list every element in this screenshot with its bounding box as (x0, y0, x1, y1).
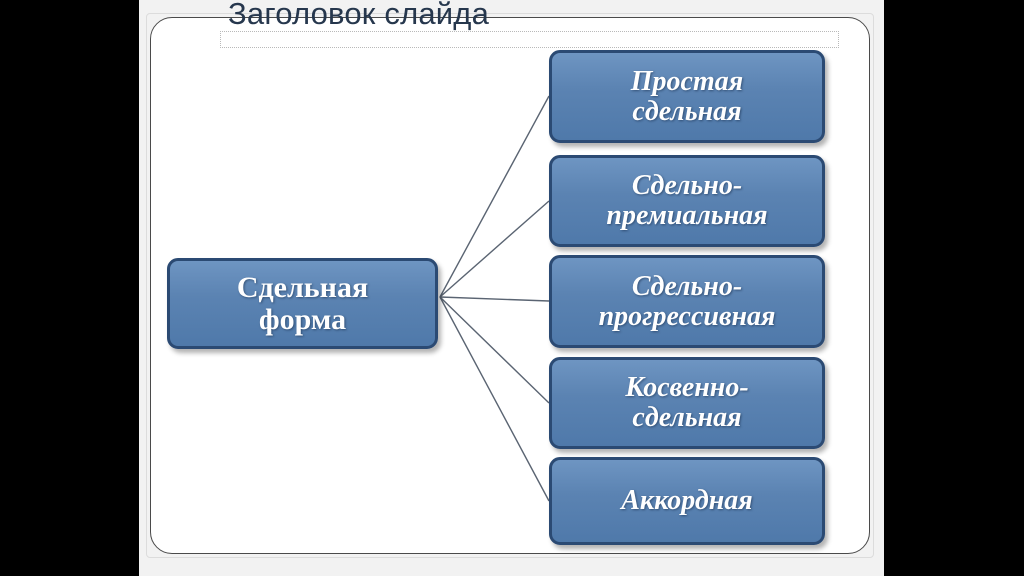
diagram-node-root-line-2: форма (259, 303, 346, 336)
diagram-node-3-label: Сдельно- прогрессивная (552, 272, 822, 332)
diagram-node-kosvenno-sdelnaya[interactable]: Косвенно- сдельная (549, 357, 825, 449)
diagram-node-sdelno-premialnaya[interactable]: Сдельно- премиальная (549, 155, 825, 247)
diagram-node-akkordnaya[interactable]: Аккордная (549, 457, 825, 545)
diagram-node-sdelno-progressivnaya[interactable]: Сдельно- прогрессивная (549, 255, 825, 348)
diagram-node-2-line-1: Сдельно- (632, 170, 742, 201)
letterbox-bar-right (884, 0, 1024, 576)
diagram-node-4-line-2: сдельная (632, 402, 741, 433)
diagram-node-5-label: Аккордная (552, 486, 822, 516)
diagram-node-2-line-2: премиальная (606, 200, 767, 231)
page-title: Заголовок слайда (228, 0, 489, 31)
slide-stage: Заголовок слайда Сдельная форма Простая … (0, 0, 1024, 576)
diagram-node-3-line-1: Сдельно- (632, 271, 742, 302)
diagram-node-1-label: Простая сдельная (552, 67, 822, 127)
diagram-node-1-line-1: Простая (631, 66, 743, 97)
diagram-node-root[interactable]: Сдельная форма (167, 258, 438, 349)
diagram-node-4-line-1: Косвенно- (625, 372, 748, 403)
diagram-node-root-line-1: Сдельная (237, 271, 368, 304)
diagram-node-3-line-2: прогрессивная (599, 301, 776, 332)
diagram-node-1-line-2: сдельная (632, 96, 741, 127)
diagram-node-4-label: Косвенно- сдельная (552, 373, 822, 433)
diagram-node-root-label: Сдельная форма (170, 272, 435, 336)
title-placeholder-box[interactable] (220, 31, 839, 48)
diagram-node-prostaya-sdelnaya[interactable]: Простая сдельная (549, 50, 825, 143)
diagram-node-5-line-1: Аккордная (621, 485, 752, 516)
diagram-node-2-label: Сдельно- премиальная (552, 171, 822, 231)
letterbox-bar-left (0, 0, 139, 576)
